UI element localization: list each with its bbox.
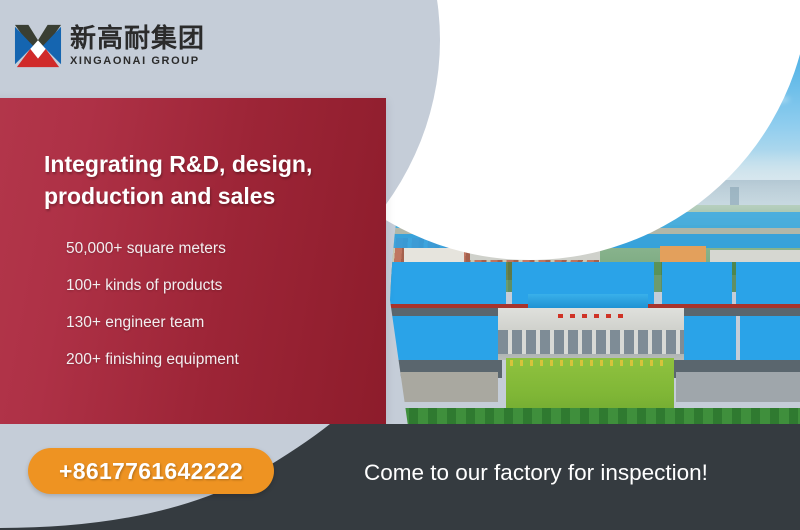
list-item: 50,000+ square meters: [66, 240, 386, 258]
hero-facts-list: 50,000+ square meters 100+ kinds of prod…: [66, 240, 386, 388]
phone-number: +8617761642222: [59, 458, 243, 485]
brand-name-en: XINGAONAI GROUP: [70, 56, 205, 67]
hero-headline: Integrating R&D, design, production and …: [44, 148, 374, 212]
phone-button[interactable]: +8617761642222: [28, 448, 274, 494]
facade-signage: [558, 314, 624, 318]
list-item: 100+ kinds of products: [66, 277, 386, 295]
list-item: 200+ finishing equipment: [66, 351, 386, 369]
brand-logo[interactable]: 新高耐集团 XINGAONAI GROUP: [14, 22, 205, 70]
list-item: 130+ engineer team: [66, 314, 386, 332]
xingaonai-x-logo-icon: [14, 22, 62, 70]
promo-banner: 新高耐集团 XINGAONAI GROUP Integrating R&D, d…: [0, 0, 800, 530]
cta-text: Come to our factory for inspection!: [364, 460, 784, 486]
brand-name-cn: 新高耐集团: [70, 26, 205, 52]
